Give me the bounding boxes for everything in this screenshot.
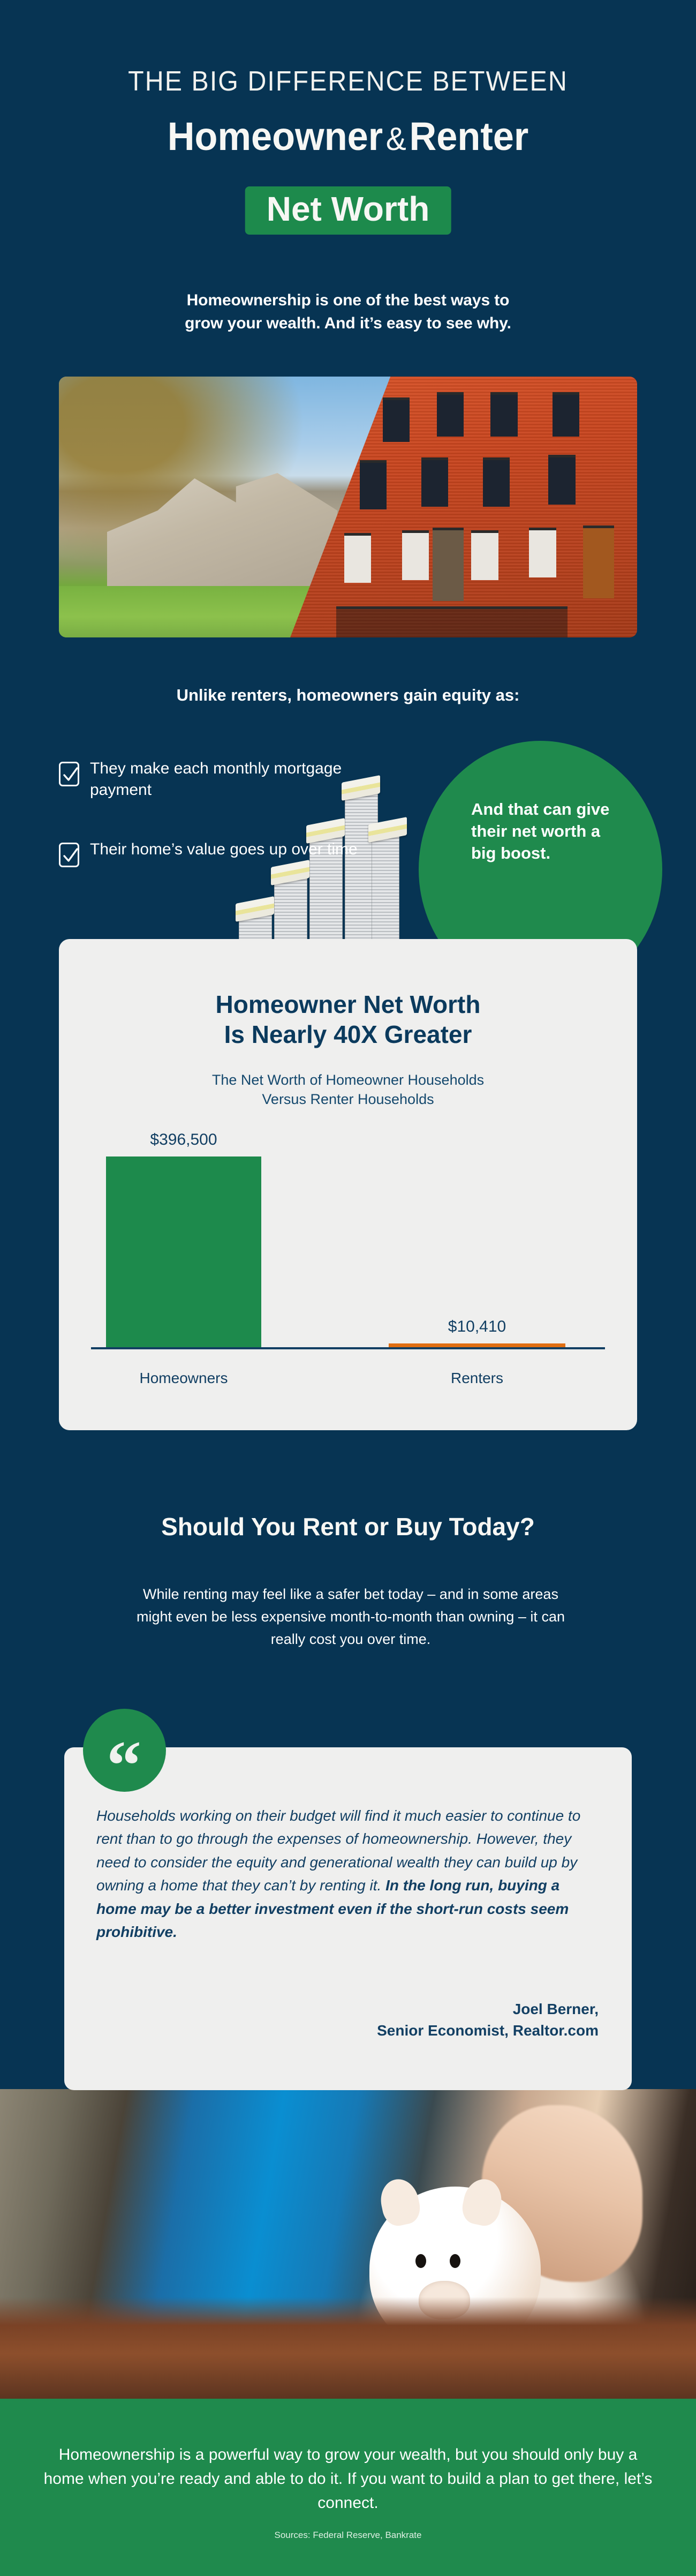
bar-value-homeowners: $396,500	[106, 1131, 261, 1149]
quote-author-title: Senior Economist, Realtor.com	[224, 2020, 599, 2042]
checkmark-icon	[59, 762, 79, 786]
headline-left: Homeowner	[168, 114, 383, 159]
hero-section: THE BIG DIFFERENCE BETWEEN Homeowner&Ren…	[0, 0, 696, 375]
footer-banner: Homeownership is a powerful way to grow …	[0, 2399, 696, 2576]
equity-section-title: Unlike renters, homeowners gain equity a…	[0, 686, 696, 705]
bar-label-homeowners: Homeowners	[106, 1370, 261, 1387]
headline-ampersand: &	[383, 121, 409, 157]
kicker-text: THE BIG DIFFERENCE BETWEEN	[25, 67, 672, 95]
headline-right: Renter	[410, 114, 529, 159]
net-worth-chart-card: Homeowner Net Worth Is Nearly 40X Greate…	[59, 939, 637, 1430]
equity-checklist: They make each monthly mortgage payment …	[59, 758, 359, 906]
chart-subtitle-line1: The Net Worth of Homeowner Households	[59, 1070, 637, 1090]
bar-value-renters: $10,410	[389, 1318, 565, 1336]
wooden-floor	[0, 2297, 696, 2399]
chart-title-line2: Is Nearly 40X Greater	[59, 1019, 637, 1049]
quote-author: Joel Berner,	[224, 1999, 599, 2021]
piggy-ear-left	[377, 2176, 423, 2229]
quote-text: Households working on their budget will …	[96, 1804, 600, 1943]
quote-mark-icon: “	[83, 1709, 166, 1792]
page-title: Homeowner&Renter	[18, 117, 679, 156]
list-item: They make each monthly mortgage payment	[59, 758, 359, 800]
chart-title-line1: Homeowner Net Worth	[59, 989, 637, 1019]
hero-subhead: Homeownership is one of the best ways to…	[0, 289, 696, 335]
footer-message: Homeownership is a powerful way to grow …	[43, 2443, 653, 2515]
chart-subtitle: The Net Worth of Homeowner Households Ve…	[59, 1070, 637, 1109]
rent-or-buy-title: Should You Rent or Buy Today?	[0, 1512, 696, 1541]
checklist-label: Their home’s value goes up over time	[90, 839, 358, 860]
piggy-bank-photo	[0, 2089, 696, 2399]
infographic-page: THE BIG DIFFERENCE BETWEEN Homeowner&Ren…	[0, 0, 696, 2576]
blob-callout-text: And that can give their net worth a big …	[471, 798, 626, 865]
list-item: Their home’s value goes up over time	[59, 839, 359, 867]
checkmark-icon	[59, 843, 79, 867]
piggy-eye-left	[415, 2254, 426, 2268]
checklist-label: They make each monthly mortgage payment	[90, 758, 359, 800]
bar-chart-plot: $396,500 $10,410 Homeowners Renters	[91, 1143, 605, 1394]
quote-attribution: Joel Berner, Senior Economist, Realtor.c…	[224, 1999, 599, 2042]
bar-label-renters: Renters	[389, 1370, 565, 1387]
hero-subhead-line1: Homeownership is one of the best ways to	[0, 289, 696, 312]
net-worth-badge: Net Worth	[245, 186, 451, 235]
photo-collage	[59, 377, 637, 637]
hero-subhead-line2: grow your wealth. And it’s easy to see w…	[0, 312, 696, 335]
chart-title: Homeowner Net Worth Is Nearly 40X Greate…	[59, 989, 637, 1049]
rent-or-buy-body: While renting may feel like a safer bet …	[134, 1583, 568, 1650]
piggy-eye-right	[450, 2254, 460, 2268]
chart-subtitle-line2: Versus Renter Households	[59, 1090, 637, 1109]
bar-homeowners	[106, 1156, 261, 1348]
footer-sources: Sources: Federal Reserve, Bankrate	[0, 2530, 696, 2541]
quote-glyph: “	[107, 1731, 142, 1800]
quote-card: Households working on their budget will …	[64, 1747, 632, 2090]
chart-axis-line	[91, 1347, 605, 1349]
